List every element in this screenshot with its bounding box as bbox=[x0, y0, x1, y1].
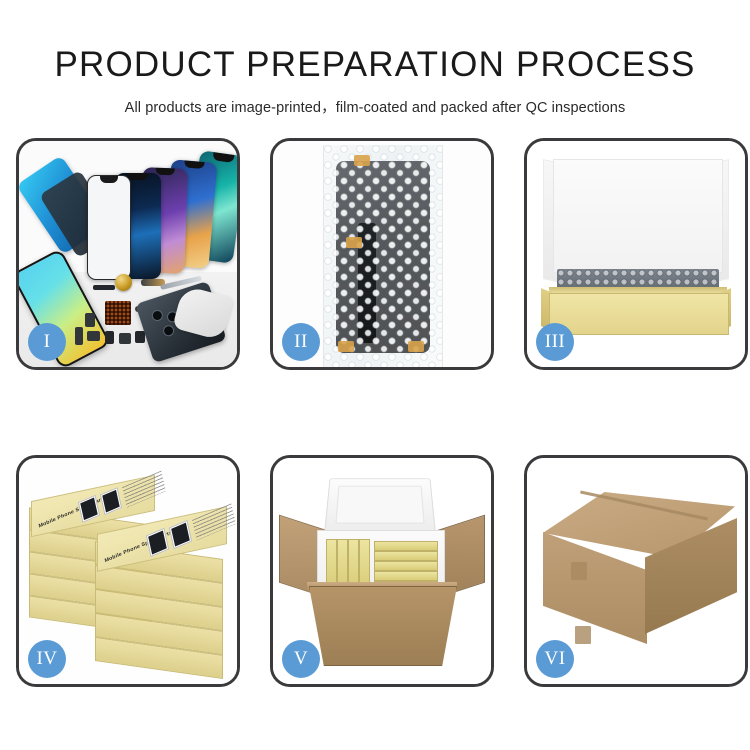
step-card-1[interactable]: I bbox=[16, 138, 240, 370]
spare-part bbox=[87, 331, 100, 341]
tape-strip bbox=[338, 341, 354, 352]
chip-array-part bbox=[105, 301, 131, 325]
box-screen-image bbox=[100, 487, 122, 515]
packed-box bbox=[374, 561, 438, 571]
phone-screen-1-blank bbox=[87, 175, 131, 280]
tape-strip bbox=[354, 155, 370, 166]
spare-part bbox=[85, 313, 95, 327]
box-lid bbox=[553, 159, 723, 273]
step-card-6[interactable]: VI bbox=[524, 455, 748, 687]
packed-box bbox=[374, 541, 438, 551]
step-badge-4: IV bbox=[28, 640, 66, 678]
foam-lid bbox=[324, 478, 436, 532]
vibration-coil-part bbox=[115, 274, 132, 291]
packed-box bbox=[374, 551, 438, 561]
tape-strip bbox=[408, 341, 424, 352]
packed-box bbox=[374, 571, 438, 581]
step-badge-6: VI bbox=[536, 640, 574, 678]
spare-part bbox=[135, 331, 145, 343]
step-card-2[interactable]: II bbox=[270, 138, 494, 370]
box-spec-text bbox=[192, 503, 236, 540]
step-badge-1: I bbox=[28, 323, 66, 361]
spare-part bbox=[93, 285, 115, 290]
box-spec-text bbox=[122, 471, 166, 508]
process-row-bottom: Mobile Phone Spare Parts bbox=[16, 455, 736, 687]
phone-screen-fan bbox=[81, 151, 237, 276]
step-card-3[interactable]: III bbox=[524, 138, 748, 370]
step-badge-3: III bbox=[536, 323, 574, 361]
carton-tape-lower bbox=[575, 626, 591, 644]
carton-tape-upper bbox=[571, 562, 587, 580]
spare-part bbox=[75, 327, 83, 345]
page-title: PRODUCT PREPARATION PROCESS bbox=[0, 45, 750, 85]
step-card-4[interactable]: Mobile Phone Spare Parts bbox=[16, 455, 240, 687]
process-row-top: I II bbox=[16, 138, 736, 370]
page-subtitle: All products are image-printed，film-coat… bbox=[0, 96, 750, 117]
step-badge-5: V bbox=[282, 640, 320, 678]
carton-front-panel bbox=[309, 586, 457, 666]
spare-part bbox=[105, 331, 114, 344]
tape-strip bbox=[346, 237, 362, 248]
box-front-panel bbox=[549, 293, 729, 335]
box-screen-image bbox=[169, 520, 192, 549]
page-root: PRODUCT PREPARATION PROCESS All products… bbox=[0, 0, 750, 750]
bubble-texture bbox=[324, 145, 442, 367]
bubble-wrap-bag bbox=[323, 145, 443, 367]
header: PRODUCT PREPARATION PROCESS All products… bbox=[0, 0, 750, 117]
step-card-5[interactable]: V bbox=[270, 455, 494, 687]
spare-part bbox=[119, 333, 131, 344]
process-grid: I II bbox=[16, 138, 736, 750]
step-badge-2: II bbox=[282, 323, 320, 361]
